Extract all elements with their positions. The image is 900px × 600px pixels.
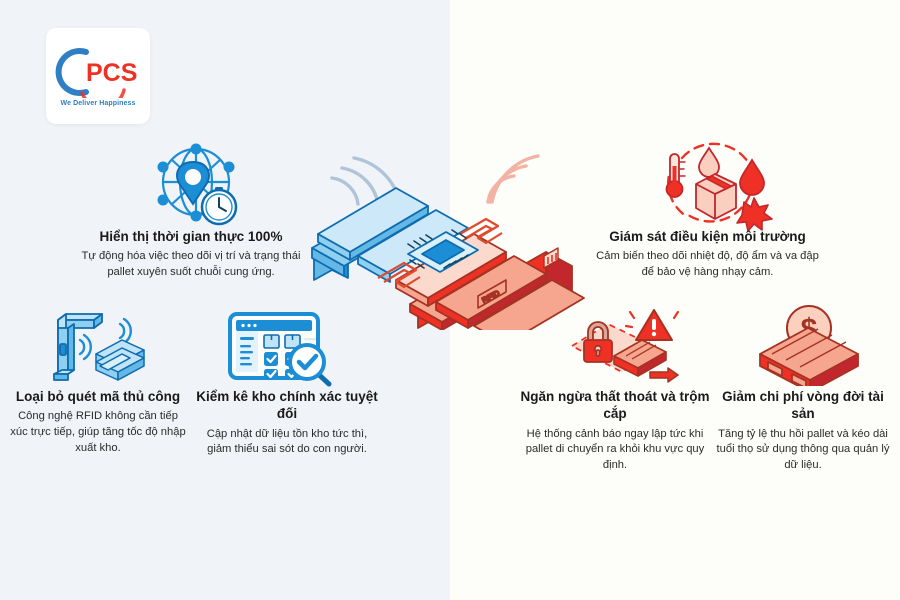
benefit-body: Cảm biến theo dõi nhiệt độ, độ ẩm và va … <box>590 249 825 281</box>
logo-tagline: We Deliver Happiness <box>60 100 135 107</box>
benefit-block-inventory: Kiểm kê kho chính xác tuyệt đối Cập nhật… <box>196 388 378 458</box>
globe-network-location-clock-icon <box>146 134 246 234</box>
benefit-block-theft: Ngăn ngừa thất thoát và trộm cắp Hệ thốn… <box>520 388 710 474</box>
benefit-body: Hệ thống cảnh báo ngay lập tức khi palle… <box>520 427 710 475</box>
benefit-title: Giảm chi phí vòng đời tài sản <box>712 388 894 423</box>
temperature-humidity-impact-icon <box>652 132 778 232</box>
infographic-canvas: PCS We Deliver Happiness <box>0 0 900 600</box>
pcs-logo-mark: PCS <box>52 46 144 98</box>
benefit-title: Giám sát điều kiện môi trường <box>590 228 825 245</box>
benefit-title: Ngăn ngừa thất thoát và trộm cắp <box>520 388 710 423</box>
rfid-gate-scanner-icon <box>44 302 152 386</box>
benefit-block-realtime: Hiển thị thời gian thực 100% Tự động hóa… <box>75 228 307 281</box>
benefit-block-cost: Giảm chi phí vòng đời tài sản Tăng tỷ lệ… <box>712 388 894 474</box>
benefit-body: Tự động hóa việc theo dõi vị trí và trạn… <box>75 249 307 281</box>
benefit-title: Hiển thị thời gian thực 100% <box>75 228 307 245</box>
benefit-title: Kiểm kê kho chính xác tuyệt đối <box>196 388 378 423</box>
benefit-body: Tăng tỷ lệ thu hồi pallet và kéo dài tuổ… <box>712 427 894 475</box>
benefit-title: Loại bỏ quét mã thủ công <box>8 388 188 405</box>
brand-logo-card: PCS We Deliver Happiness <box>46 28 150 124</box>
benefit-block-environment: Giám sát điều kiện môi trường Cảm biến t… <box>590 228 825 281</box>
svg-text:PCS: PCS <box>86 59 137 87</box>
benefit-body: Công nghệ RFID không cần tiếp xúc trực t… <box>8 409 188 457</box>
benefit-block-scanning: Loại bỏ quét mã thủ công Công nghệ RFID … <box>8 388 188 457</box>
rfid-smart-pallet-illustration: RFID <box>300 130 600 330</box>
benefit-body: Cập nhật dữ liệu tồn kho tức thì, giảm t… <box>196 427 378 459</box>
dollar-coin-pallet-icon: $ <box>752 302 866 386</box>
